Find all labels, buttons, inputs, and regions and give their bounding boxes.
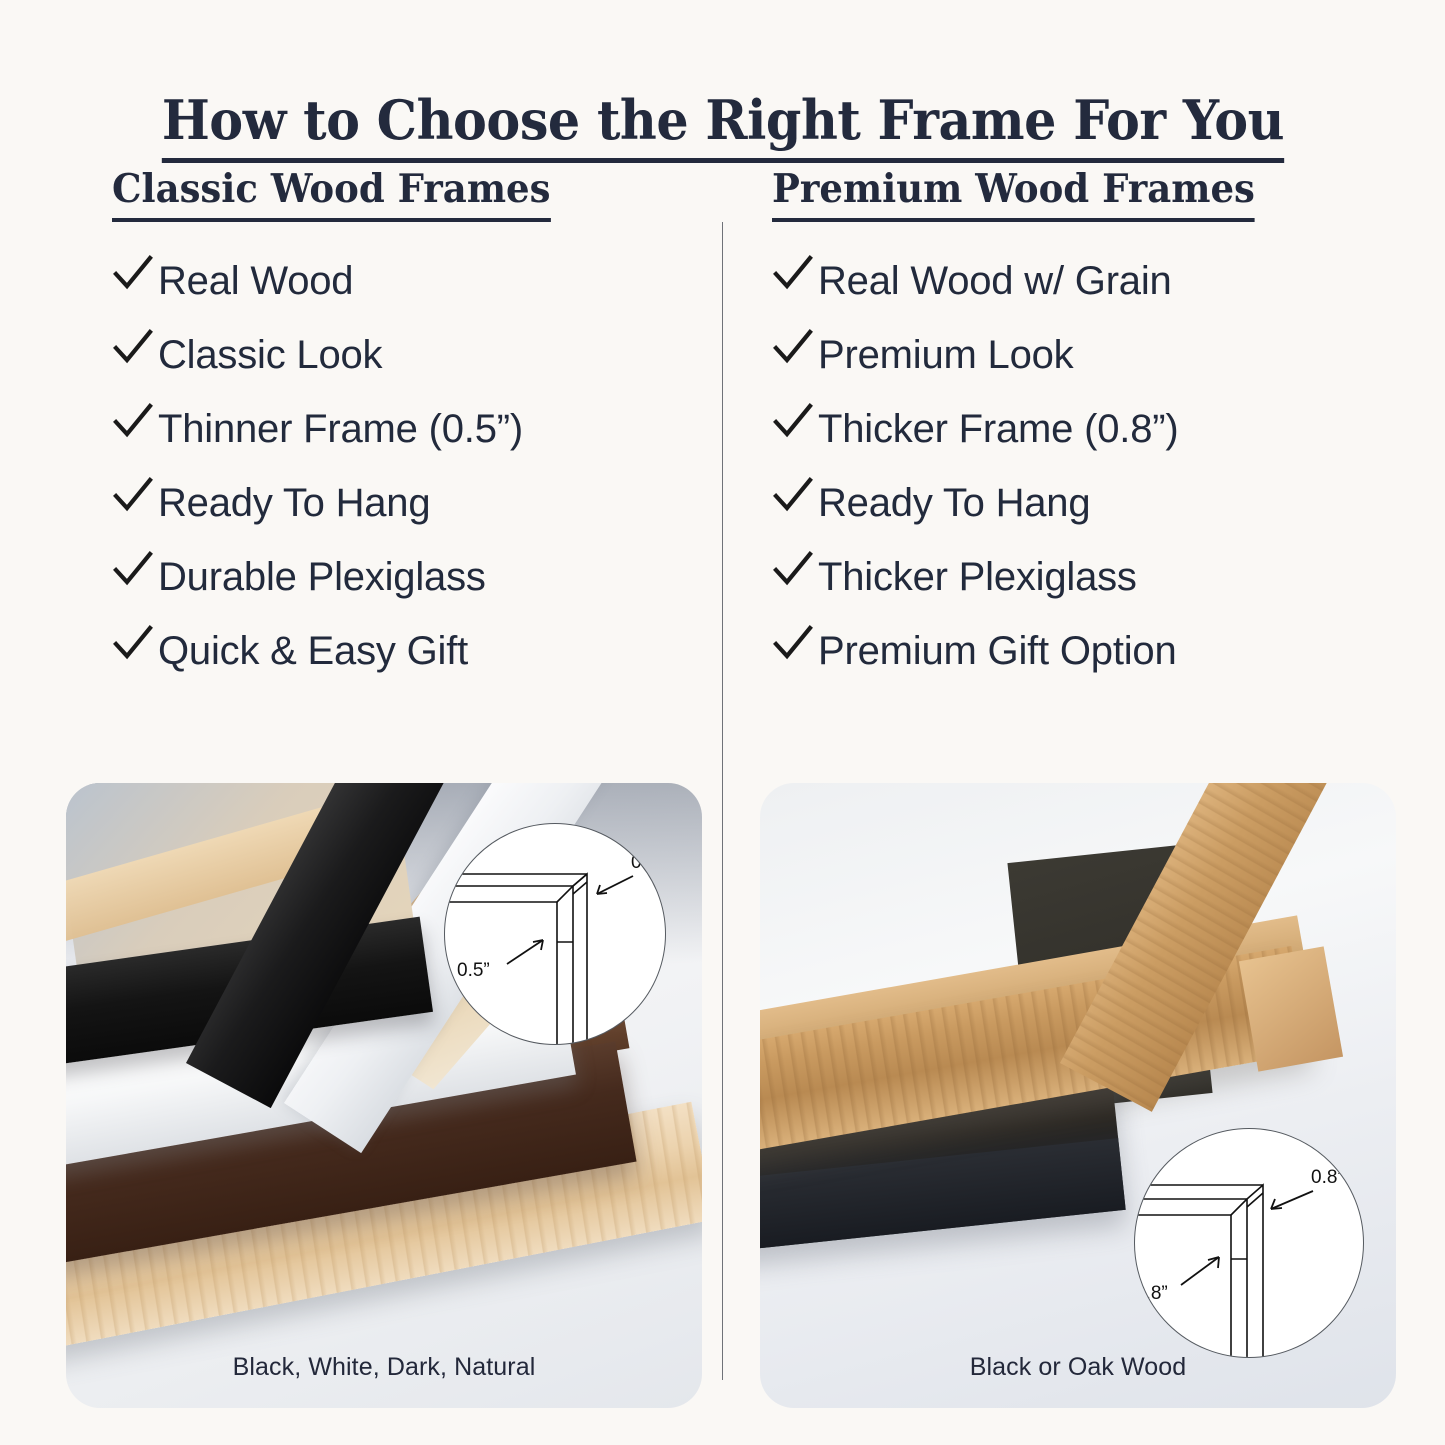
- frame-profile-diagram: 0.8” 0.8”: [1135, 1129, 1364, 1358]
- checkmark-icon: [772, 481, 818, 517]
- list-item: Thicker Frame (0.8”): [772, 406, 1377, 480]
- feature-label: Durable Plexiglass: [158, 557, 486, 597]
- feature-label: Ready To Hang: [818, 483, 1090, 523]
- checkmark-icon: [772, 333, 818, 369]
- list-item: Ready To Hang: [112, 480, 717, 554]
- checkmark-icon: [772, 629, 818, 665]
- list-item: Quick & Easy Gift: [112, 628, 717, 702]
- page-title: How to Choose the Right Frame For You: [161, 92, 1283, 163]
- list-item: Ready To Hang: [772, 480, 1377, 554]
- comparison-columns: Classic Wood Frames Real Wood Classic Lo…: [0, 168, 1445, 788]
- checkmark-icon: [112, 629, 158, 665]
- list-item: Thinner Frame (0.5”): [112, 406, 717, 480]
- checkmark-icon: [772, 259, 818, 295]
- feature-list-premium: Real Wood w/ Grain Premium Look Thicker …: [772, 258, 1377, 702]
- list-item: Real Wood: [112, 258, 717, 332]
- column-premium-wood-frames: Premium Wood Frames Real Wood w/ Grain P…: [772, 168, 1377, 702]
- feature-label: Thicker Frame (0.8”): [818, 409, 1179, 449]
- feature-label: Thicker Plexiglass: [818, 557, 1137, 597]
- checkmark-icon: [112, 407, 158, 443]
- title-container: How to Choose the Right Frame For You: [0, 92, 1445, 163]
- feature-label: Real Wood w/ Grain: [818, 261, 1172, 301]
- feature-list-classic: Real Wood Classic Look Thinner Frame (0.…: [112, 258, 717, 702]
- photo-caption-classic: Black, White, Dark, Natural: [66, 1353, 702, 1382]
- photo-card-premium: 0.8” 0.8” Black or Oak Wood: [760, 783, 1396, 1408]
- checkmark-icon: [772, 407, 818, 443]
- list-item: Real Wood w/ Grain: [772, 258, 1377, 332]
- list-item: Durable Plexiglass: [112, 554, 717, 628]
- column-heading-premium: Premium Wood Frames: [772, 168, 1255, 222]
- feature-label: Premium Look: [818, 335, 1073, 375]
- feature-label: Ready To Hang: [158, 483, 430, 523]
- feature-label: Real Wood: [158, 261, 353, 301]
- list-item: Premium Look: [772, 332, 1377, 406]
- feature-label: Quick & Easy Gift: [158, 631, 468, 671]
- list-item: Classic Look: [112, 332, 717, 406]
- infographic-page: How to Choose the Right Frame For You Cl…: [0, 0, 1445, 1445]
- photo-card-classic: 0.75” 0.5” Black, White, Dark, Natural: [66, 783, 702, 1408]
- list-item: Thicker Plexiglass: [772, 554, 1377, 628]
- photo-caption-premium: Black or Oak Wood: [760, 1353, 1396, 1382]
- checkmark-icon: [112, 481, 158, 517]
- column-heading-classic: Classic Wood Frames: [112, 168, 550, 222]
- feature-label: Classic Look: [158, 335, 382, 375]
- dimension-diagram-classic: 0.75” 0.5”: [444, 823, 666, 1045]
- checkmark-icon: [112, 259, 158, 295]
- column-classic-wood-frames: Classic Wood Frames Real Wood Classic Lo…: [112, 168, 717, 702]
- frame-profile-diagram: 0.75” 0.5”: [445, 824, 666, 1045]
- list-item: Premium Gift Option: [772, 628, 1377, 702]
- feature-label: Premium Gift Option: [818, 631, 1177, 671]
- checkmark-icon: [112, 555, 158, 591]
- checkmark-icon: [772, 555, 818, 591]
- checkmark-icon: [112, 333, 158, 369]
- dimension-diagram-premium: 0.8” 0.8”: [1134, 1128, 1364, 1358]
- feature-label: Thinner Frame (0.5”): [158, 409, 523, 449]
- measure-inner-label: 0.5”: [457, 960, 490, 981]
